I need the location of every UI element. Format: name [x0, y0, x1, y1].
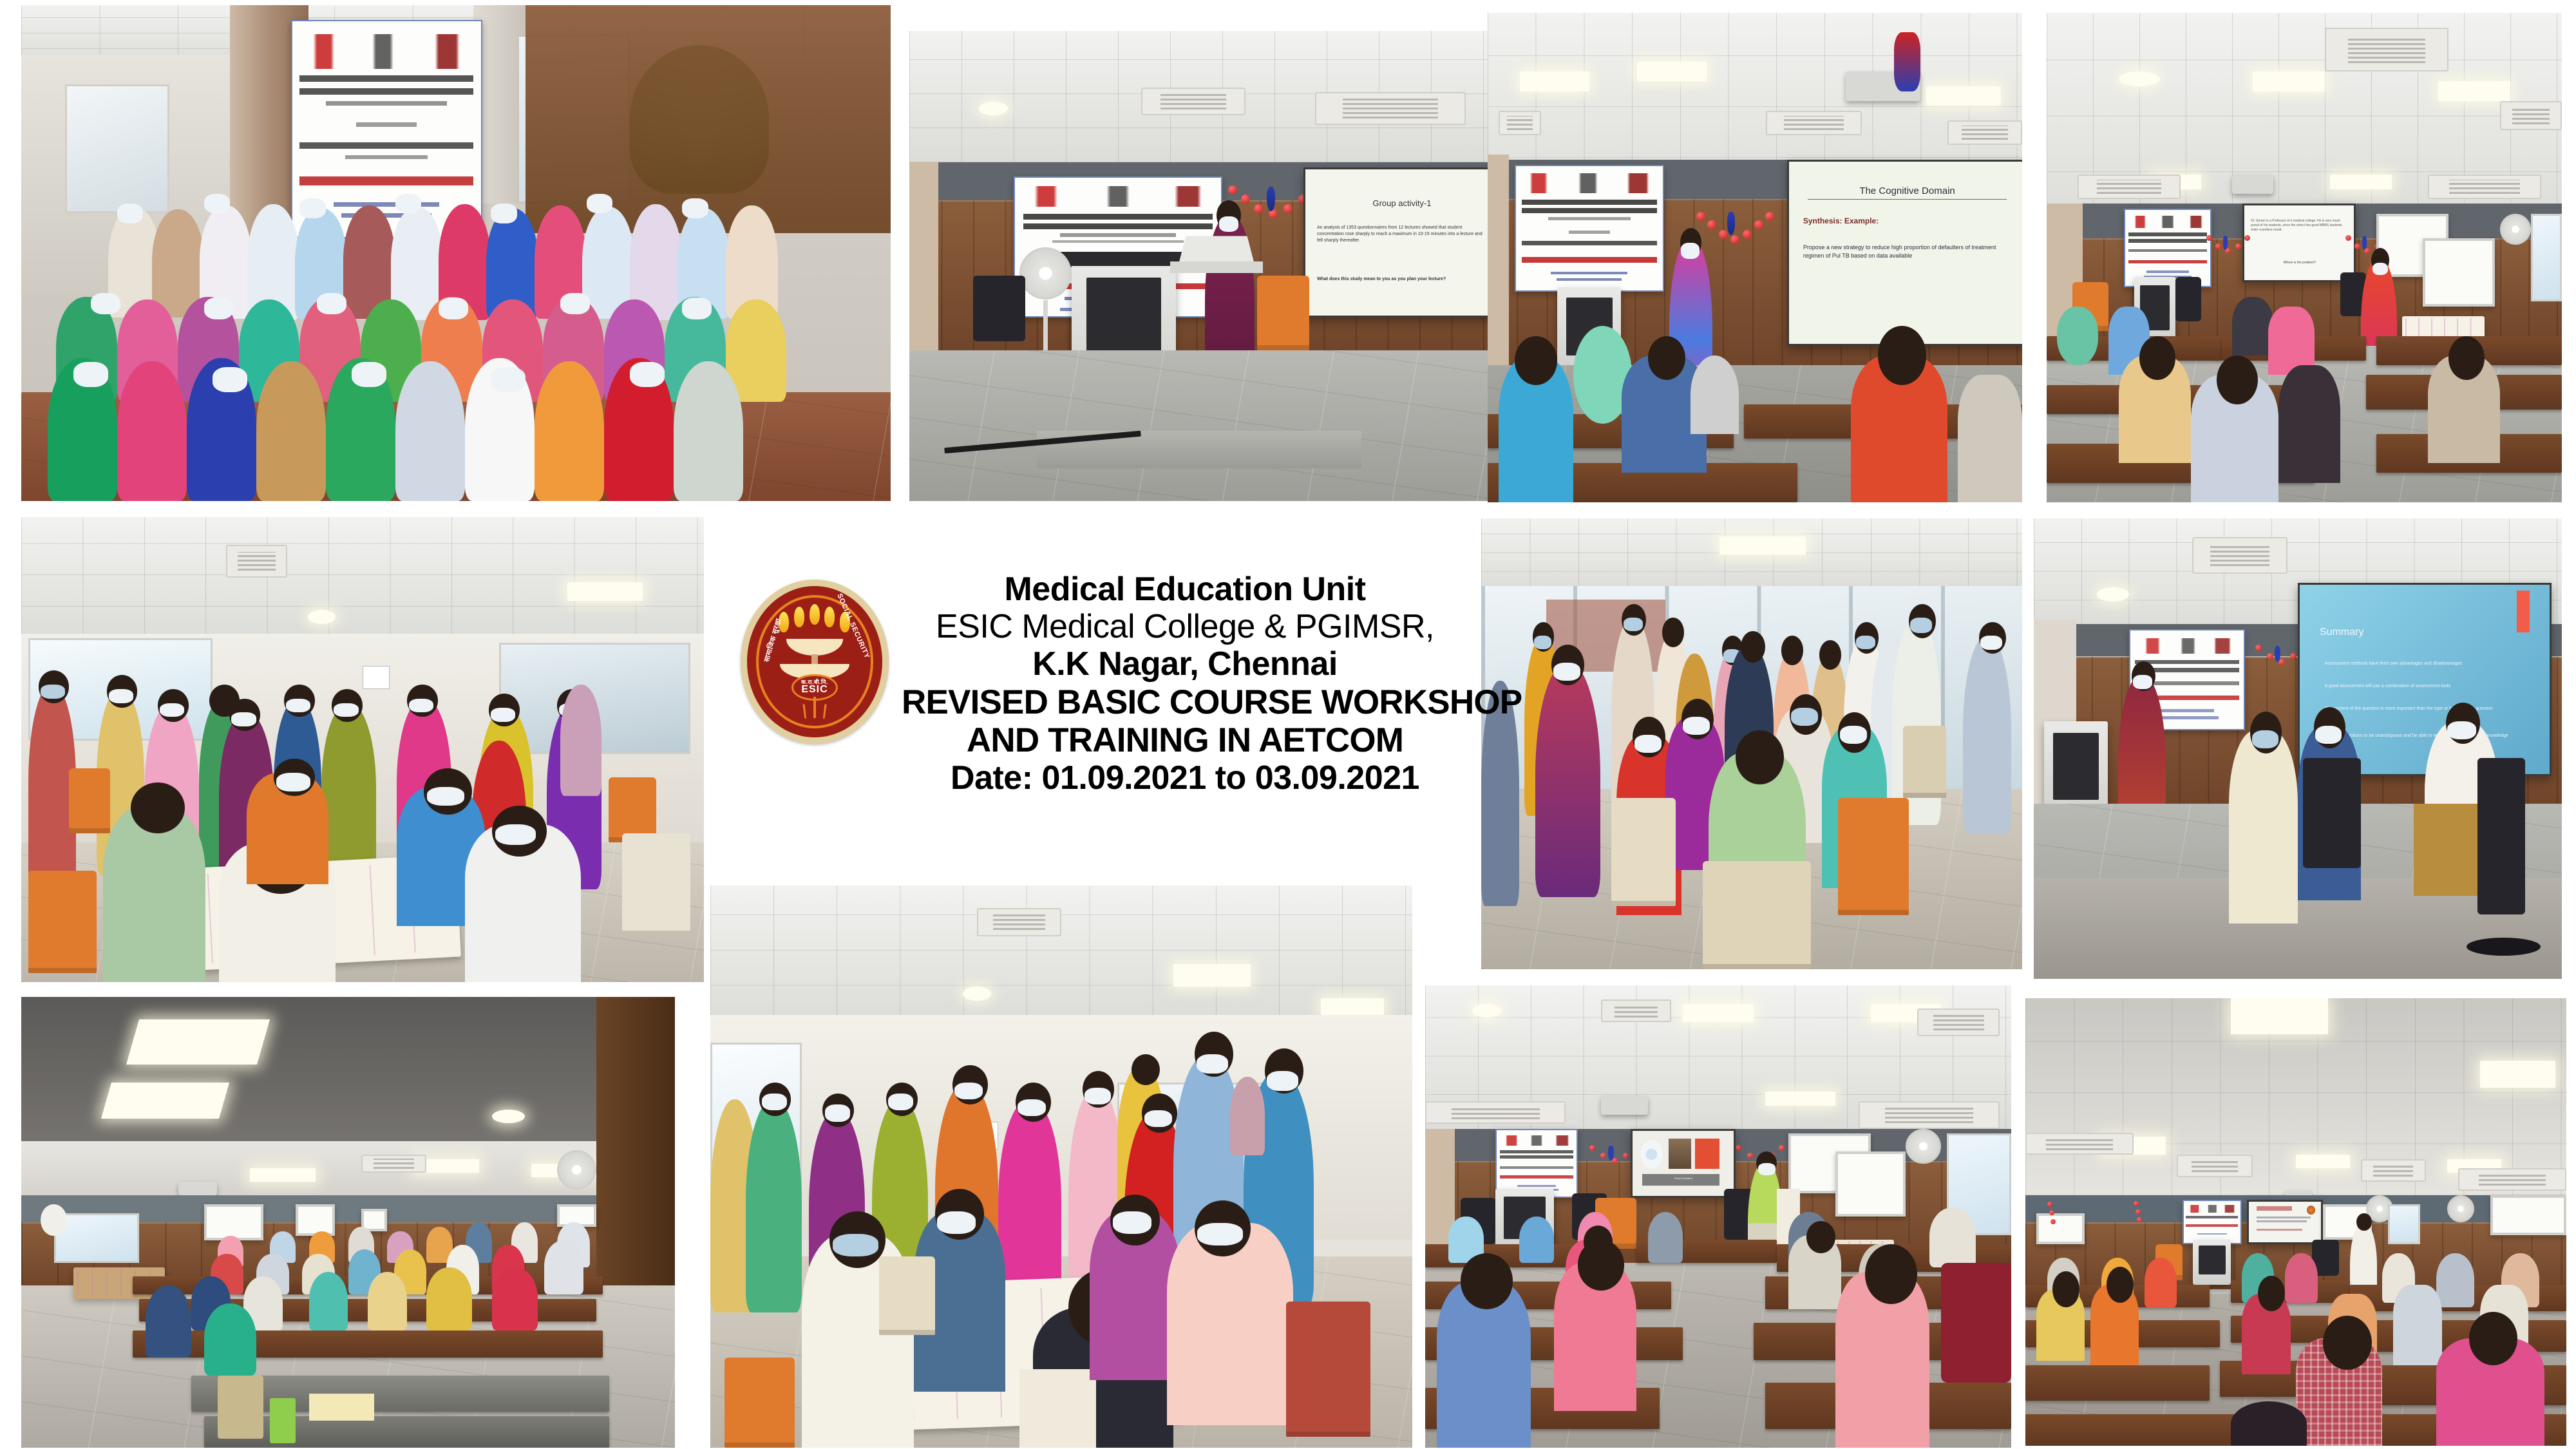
- slide-question: What does this study mean to you as you …: [1317, 276, 1489, 283]
- slide-title: Group activity-1: [1305, 198, 1489, 208]
- projection-screen: Early Evaluation: [1631, 1129, 1736, 1198]
- slide-caption: Early Evaluation: [1638, 1177, 1728, 1180]
- event-banner: [2183, 1200, 2242, 1245]
- slide-body: An analysis of 1353 questionnaires from …: [1317, 225, 1489, 244]
- photo-small-group-discussion-right: [1481, 518, 2022, 969]
- title-line-2: ESIC Medical College & PGIMSR,: [902, 608, 1468, 645]
- photo-cognitive-domain-session: The Cognitive Domain Synthesis: Example:…: [1488, 13, 2022, 502]
- slide-body: Dr. Sriram is a Professor of a medical c…: [2251, 219, 2348, 232]
- slide-bullet-1: Assessment methods have their own advant…: [2325, 661, 2537, 668]
- slide-bullet-4: We want questions to be unambiguous and …: [2325, 733, 2537, 740]
- event-banner: [2124, 209, 2211, 287]
- flipchart-board: [2423, 238, 2495, 307]
- title-line-5: AND TRAINING IN AETCOM: [902, 721, 1468, 759]
- title-line-1: Medical Education Unit: [902, 571, 1468, 608]
- center-title-text: Medical Education Unit ESIC Medical Coll…: [902, 571, 1468, 797]
- photo-classroom-wide-session: Dr. Sriram is a Professor of a medical c…: [2047, 13, 2562, 502]
- slide-line: Where is the problem?: [2251, 261, 2348, 265]
- esic-logo-icon: क.रा.बी.नि. ESIC सामाजिक सुरक्षा SOCIAL …: [741, 580, 889, 744]
- projection-screen: Group activity-1 An analysis of 1353 que…: [1303, 167, 1489, 318]
- title-line-3: K.K Nagar, Chennai: [902, 645, 1468, 683]
- title-line-6: Date: 01.09.2021 to 03.09.2021: [902, 759, 1468, 797]
- photo-hall-session-presenter: Early Evaluation: [1425, 985, 2011, 1448]
- slide-subtitle: Synthesis: Example:: [1803, 216, 2014, 225]
- projector: [2232, 175, 2273, 194]
- photo-group-photo: [21, 5, 891, 501]
- photo-small-group-discussion-left: [21, 517, 704, 982]
- slide-bullet-3: The content of the question is more impo…: [2325, 706, 2537, 713]
- esic-abbr: ESIC: [793, 684, 835, 696]
- photo-hall-session-wide: [2025, 998, 2566, 1446]
- slide-title: Summary: [2320, 627, 2537, 638]
- photo-flipchart-group-work: [710, 885, 1412, 1448]
- slide-bullet-2: A good assessment will use a combination…: [2325, 683, 2537, 690]
- flipchart-board: [1835, 1151, 1906, 1217]
- center-title-block: क.रा.बी.नि. ESIC सामाजिक सुरक्षा SOCIAL …: [708, 567, 1481, 869]
- projector: [1601, 1096, 1648, 1115]
- title-line-4: REVISED BASIC COURSE WORKSHOP: [902, 683, 1468, 721]
- slide-bullet: Propose a new strategy to reduce high pr…: [1803, 243, 2014, 260]
- photo-collage: Group activity-1 An analysis of 1353 que…: [0, 0, 2576, 1449]
- projection-screen: Dr. Sriram is a Professor of a medical c…: [2242, 204, 2356, 282]
- photo-auditorium-participants: [21, 997, 675, 1448]
- event-banner: [1495, 1129, 1577, 1198]
- projection-screen: [2247, 1200, 2323, 1245]
- projection-screen: The Cognitive Domain Synthesis: Example:…: [1787, 160, 2022, 346]
- photo-podium-speaker: Group activity-1 An analysis of 1353 que…: [909, 31, 1489, 501]
- event-banner: [1515, 165, 1664, 292]
- photo-summary-session: Summary Assessment methods have their ow…: [2034, 518, 2562, 979]
- slide-title: The Cognitive Domain: [1808, 185, 2007, 200]
